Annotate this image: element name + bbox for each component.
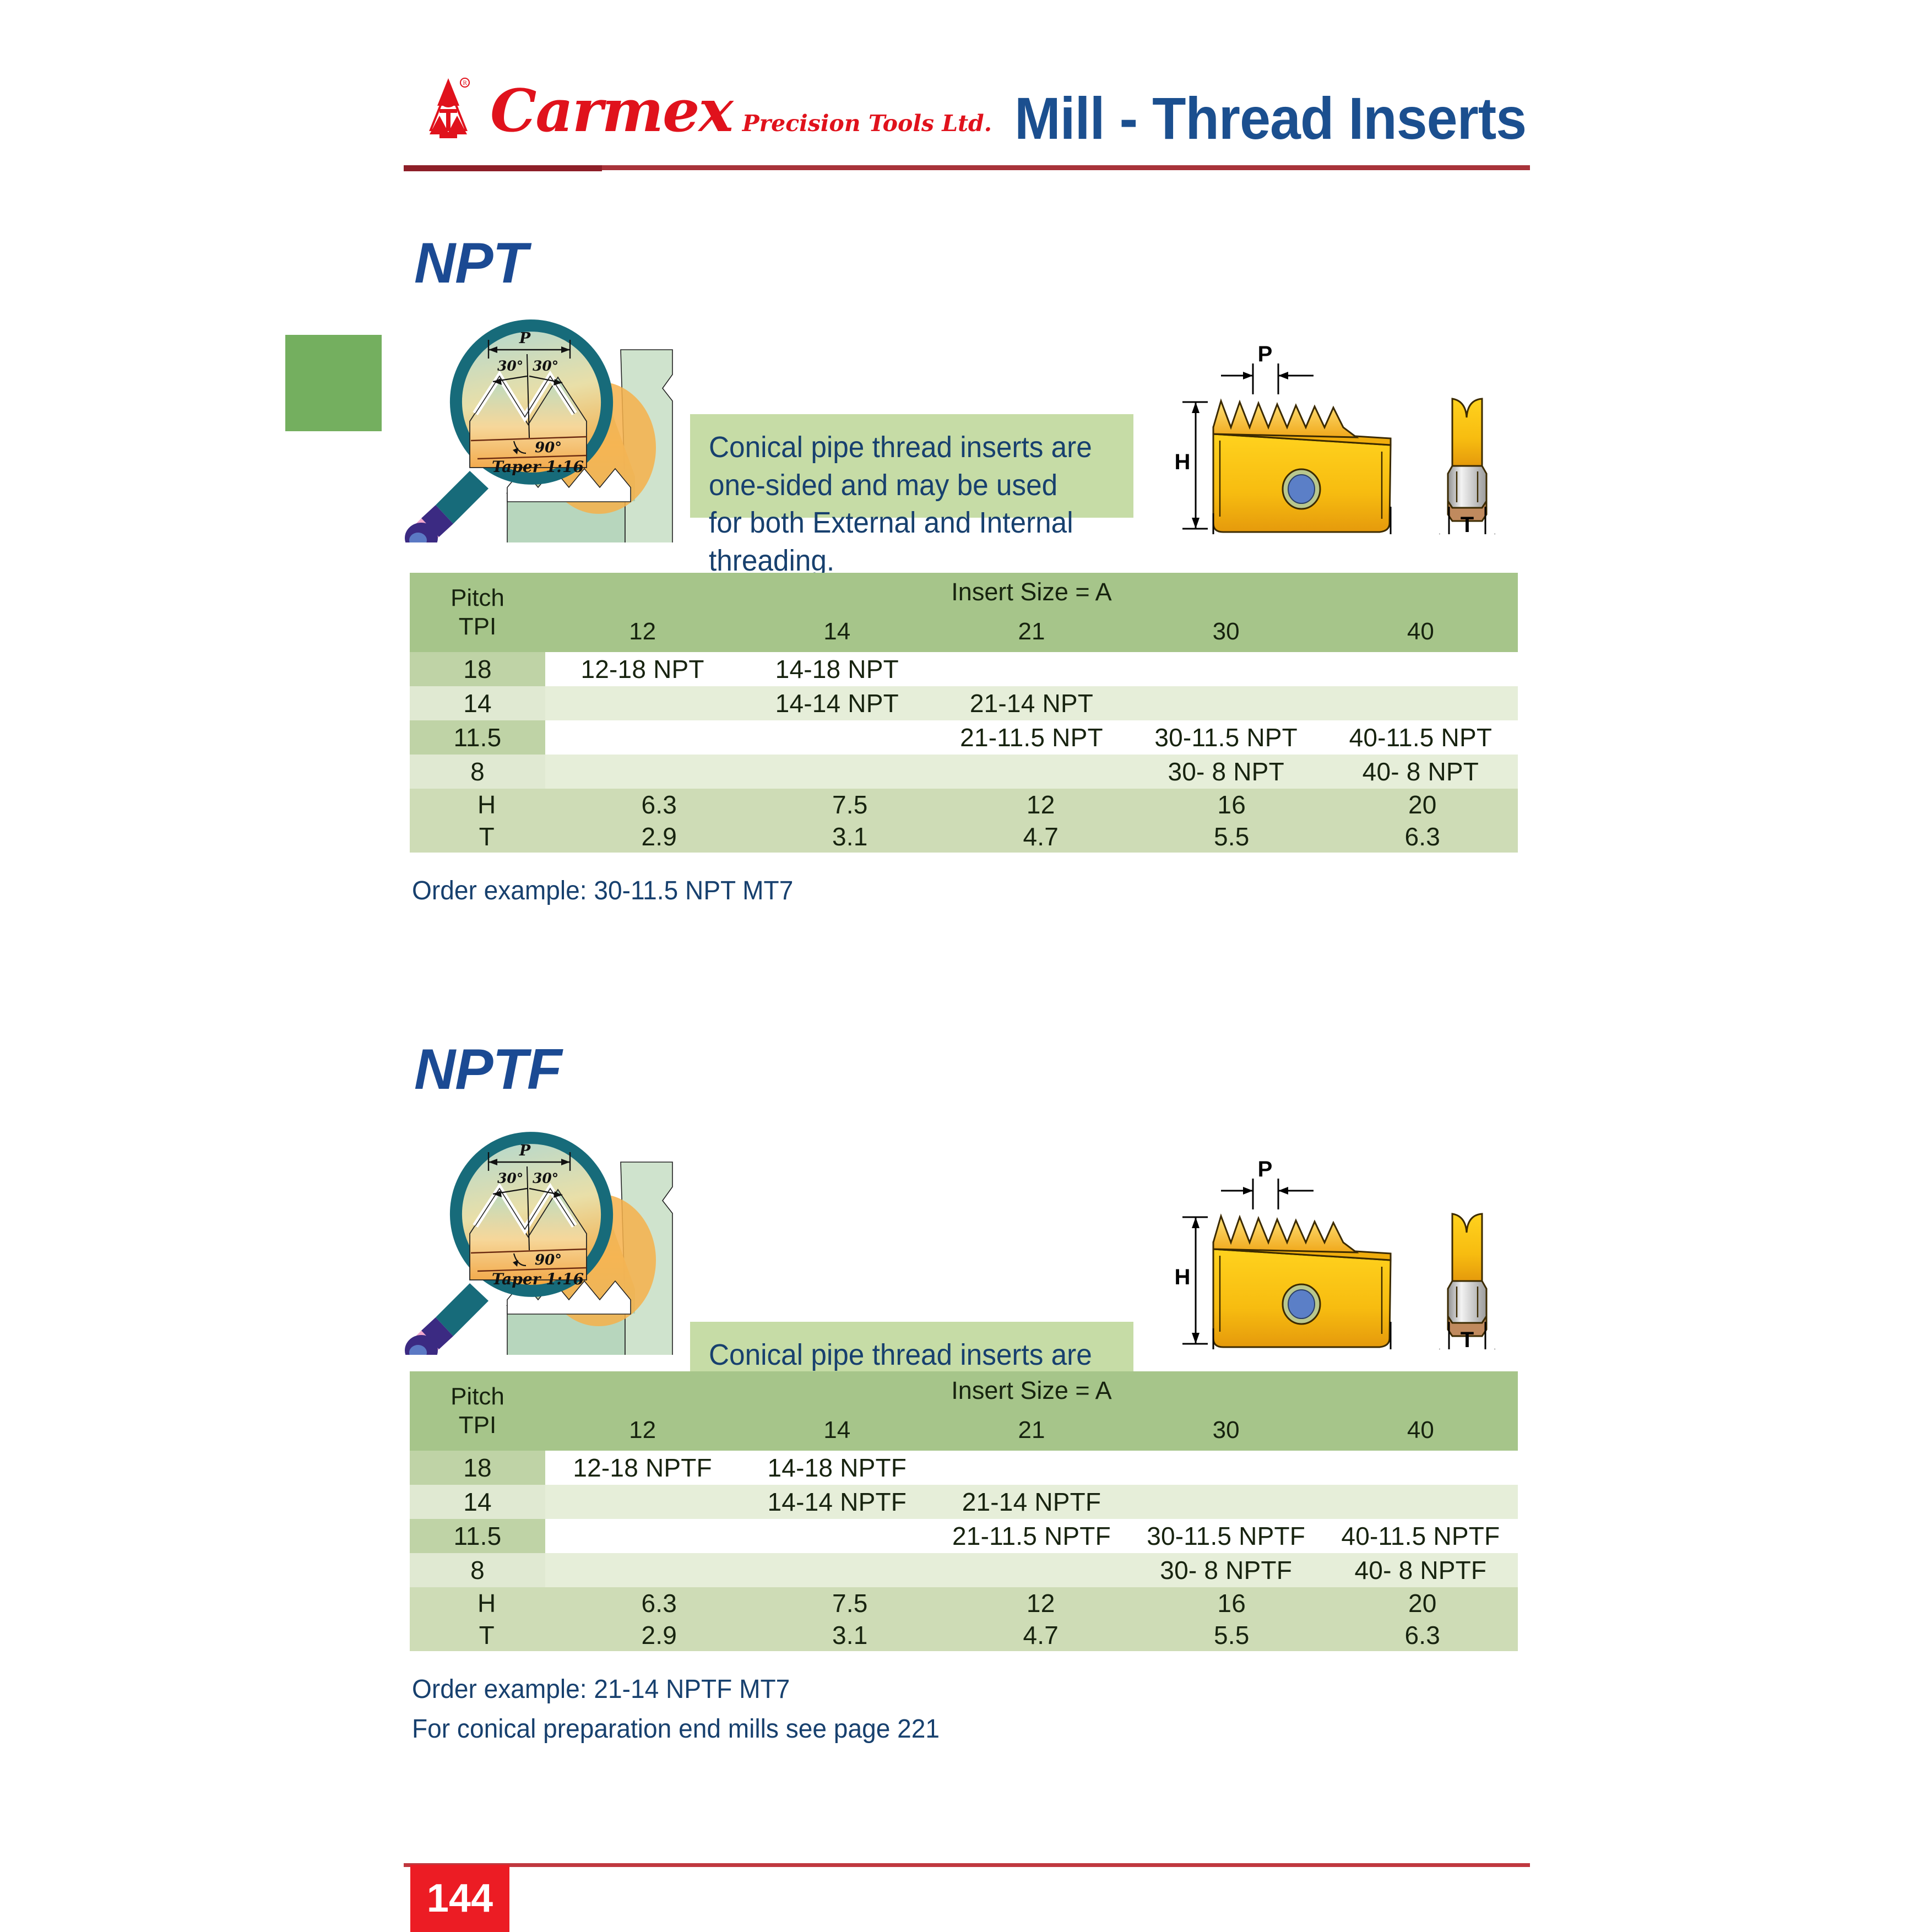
table-row: 14 14-14 NPT 21-14 NPT: [410, 686, 1518, 720]
cell: [545, 1485, 740, 1519]
table-row: 11.5 21-11.5 NPT 30-11.5 NPT 40-11.5 NPT: [410, 720, 1518, 755]
dim-value: 20: [1327, 1587, 1518, 1619]
cell: [545, 755, 740, 789]
cell: 21-11.5 NPT: [934, 720, 1128, 755]
col-header-40: 40: [1323, 1410, 1518, 1451]
dim-value: 2.9: [563, 821, 755, 853]
dim-row-label: H: [410, 789, 563, 821]
cell: 30- 8 NPT: [1129, 755, 1323, 789]
dim-value: 20: [1327, 789, 1518, 821]
cell: [1323, 652, 1518, 686]
cell: 14-18 NPTF: [740, 1451, 934, 1485]
col-header-21: 21: [934, 611, 1128, 652]
order-example-nptf: Order example: 21-14 NPTF MT7: [412, 1674, 790, 1705]
dim-label-t: T: [1461, 513, 1474, 534]
pitch-tpi-header: PitchTPI: [410, 1371, 545, 1451]
nptf-dimension-table: H 6.3 7.5 12 16 20 T 2.9 3.1 4.7 5.5 6.3: [410, 1587, 1518, 1651]
dim-value: 3.1: [755, 1619, 946, 1651]
svg-text:R: R: [463, 80, 467, 86]
catalog-page: R Carmex Precision Tools Ltd. Mill - Thr…: [0, 0, 1932, 1932]
reference-note-nptf: For conical preparation end mills see pa…: [412, 1714, 940, 1744]
cell: [934, 652, 1128, 686]
row-label-tpi: 18: [410, 1451, 545, 1485]
row-label-tpi: 14: [410, 1485, 545, 1519]
section-heading-nptf: NPTF: [414, 1041, 562, 1098]
cell: [1129, 686, 1323, 720]
nptf-insert-size-table: PitchTPI Insert Size = A 12 14 21 30 40 …: [410, 1371, 1518, 1587]
brand-name: Carmex: [490, 82, 732, 140]
magnifier-taper-label: Taper 1:16: [492, 458, 584, 476]
col-header-21: 21: [934, 1410, 1128, 1451]
cell: 30-11.5 NPT: [1129, 720, 1323, 755]
dim-value: 6.3: [563, 1587, 755, 1619]
dim-label-p: P: [1258, 342, 1273, 366]
magnifier-angle-right: 30°: [533, 358, 558, 374]
col-header-14: 14: [740, 1410, 934, 1451]
row-label-tpi: 11.5: [410, 1519, 545, 1553]
dim-value: 7.5: [755, 1587, 946, 1619]
cell: [740, 1553, 934, 1587]
cell: [545, 1519, 740, 1553]
magnifier-pitch-label: P: [519, 330, 531, 347]
dim-row-label: H: [410, 1587, 563, 1619]
dim-value: 2.9: [563, 1619, 755, 1651]
table-row: 11.5 21-11.5 NPTF 30-11.5 NPTF 40-11.5 N…: [410, 1519, 1518, 1553]
cell: 14-14 NPT: [740, 686, 934, 720]
table-column-header-row: 12 14 21 30 40: [410, 611, 1518, 652]
cell: 40-11.5 NPT: [1323, 720, 1518, 755]
row-label-tpi: 14: [410, 686, 545, 720]
col-header-14: 14: [740, 611, 934, 652]
table-row: 18 12-18 NPTF 14-18 NPTF: [410, 1451, 1518, 1485]
dim-value: 16: [1136, 1587, 1327, 1619]
insert-size-span-header: Insert Size = A: [545, 573, 1518, 611]
dim-value: 3.1: [755, 821, 946, 853]
cell: [1129, 1485, 1323, 1519]
cell: 12-18 NPT: [545, 652, 740, 686]
cell: [1323, 686, 1518, 720]
callout-text-npt: Conical pipe thread inserts are one-side…: [709, 428, 1094, 579]
dim-value: 6.3: [1327, 1619, 1518, 1651]
dim-label-h: H: [1175, 450, 1191, 474]
insert-dimension-diagram-nptf: P H A T: [1148, 1157, 1545, 1349]
dim-label-p: P: [1258, 1157, 1273, 1181]
row-label-tpi: 8: [410, 1553, 545, 1587]
cell: 40- 8 NPT: [1323, 755, 1518, 789]
dim-value: 7.5: [755, 789, 946, 821]
brand-logo: R Carmex Precision Tools Ltd.: [419, 77, 992, 144]
cell: [545, 1553, 740, 1587]
col-header-12: 12: [545, 1410, 740, 1451]
row-label-tpi: 11.5: [410, 720, 545, 755]
row-label-tpi: 18: [410, 652, 545, 686]
dim-row-label: T: [410, 821, 563, 853]
row-label-tpi: 8: [410, 755, 545, 789]
table-header-row: PitchTPI Insert Size = A: [410, 573, 1518, 611]
col-header-30: 30: [1129, 611, 1323, 652]
cell: 30- 8 NPTF: [1129, 1553, 1323, 1587]
dim-value: 6.3: [1327, 821, 1518, 853]
npt-insert-size-table: PitchTPI Insert Size = A 12 14 21 30 40 …: [410, 573, 1518, 789]
col-header-30: 30: [1129, 1410, 1323, 1451]
section-heading-npt: NPT: [414, 235, 527, 292]
dim-value: 6.3: [563, 789, 755, 821]
table-row: 8 30- 8 NPTF 40- 8 NPTF: [410, 1553, 1518, 1587]
dim-label-h: H: [1175, 1265, 1191, 1289]
magnifier-angle-left: 30°: [497, 1170, 523, 1186]
cell: 40- 8 NPTF: [1323, 1553, 1518, 1587]
carmex-triangle-logo-icon: R: [419, 77, 478, 144]
order-example-npt: Order example: 30-11.5 NPT MT7: [412, 876, 793, 906]
table-row: 18 12-18 NPT 14-18 NPT: [410, 652, 1518, 686]
cell: [1323, 1451, 1518, 1485]
dim-value: 5.5: [1136, 1619, 1327, 1651]
cell: [545, 720, 740, 755]
dim-row-label: T: [410, 1619, 563, 1651]
col-header-40: 40: [1323, 611, 1518, 652]
cell: [1129, 1451, 1323, 1485]
cell: 30-11.5 NPTF: [1129, 1519, 1323, 1553]
dim-value: 12: [945, 1587, 1136, 1619]
dim-label-t: T: [1461, 1328, 1474, 1349]
cell: 21-14 NPTF: [934, 1485, 1128, 1519]
thread-profile-illustration-nptf: P 30° 30° 90° Taper 1:16: [405, 1124, 746, 1355]
cell: [934, 1553, 1128, 1587]
cell: [740, 720, 934, 755]
cell: 40-11.5 NPTF: [1323, 1519, 1518, 1553]
dimension-row-t: T 2.9 3.1 4.7 5.5 6.3: [410, 1619, 1518, 1651]
magnifier-pitch-label: P: [519, 1142, 531, 1159]
cell: 14-14 NPTF: [740, 1485, 934, 1519]
magnifier-taper-label: Taper 1:16: [492, 1270, 584, 1288]
insert-size-span-header: Insert Size = A: [545, 1371, 1518, 1410]
cell: 21-14 NPT: [934, 686, 1128, 720]
dim-value: 12: [945, 789, 1136, 821]
col-header-12: 12: [545, 611, 740, 652]
dimension-row-h: H 6.3 7.5 12 16 20: [410, 789, 1518, 821]
table-column-header-row: 12 14 21 30 40: [410, 1410, 1518, 1451]
dimension-row-t: T 2.9 3.1 4.7 5.5 6.3: [410, 821, 1518, 853]
pitch-tpi-header: PitchTPI: [410, 573, 545, 652]
cell: [1323, 1485, 1518, 1519]
cell: [740, 1519, 934, 1553]
cell: [545, 686, 740, 720]
dim-value: 4.7: [945, 821, 1136, 853]
magnifier-included-angle: 90°: [535, 439, 562, 456]
dim-value: 5.5: [1136, 821, 1327, 853]
npt-dimension-table: H 6.3 7.5 12 16 20 T 2.9 3.1 4.7 5.5 6.3: [410, 789, 1518, 853]
cell: 21-11.5 NPTF: [934, 1519, 1128, 1553]
page-title: Mill - Thread Inserts: [1014, 84, 1526, 153]
callout-box-npt: Conical pipe thread inserts are one-side…: [690, 414, 1133, 518]
header-rule-accent: [404, 165, 602, 171]
cell: [934, 755, 1128, 789]
page-number: 144: [410, 1865, 509, 1932]
brand-subtitle: Precision Tools Ltd.: [742, 112, 992, 135]
cell: 14-18 NPT: [740, 652, 934, 686]
cell: [1129, 652, 1323, 686]
section-tab-marker: [285, 335, 382, 431]
insert-dimension-diagram-npt: P H A: [1148, 341, 1545, 534]
cell: [740, 755, 934, 789]
dim-value: 4.7: [945, 1619, 1136, 1651]
magnifier-angle-left: 30°: [497, 358, 523, 374]
dim-value: 16: [1136, 789, 1327, 821]
dimension-row-h: H 6.3 7.5 12 16 20: [410, 1587, 1518, 1619]
table-row: 14 14-14 NPTF 21-14 NPTF: [410, 1485, 1518, 1519]
footer-rule: [404, 1863, 1530, 1867]
cell: [934, 1451, 1128, 1485]
table-header-row: PitchTPI Insert Size = A: [410, 1371, 1518, 1410]
cell: 12-18 NPTF: [545, 1451, 740, 1485]
magnifier-angle-right: 30°: [533, 1170, 558, 1186]
table-row: 8 30- 8 NPT 40- 8 NPT: [410, 755, 1518, 789]
magnifier-included-angle: 90°: [535, 1252, 562, 1268]
